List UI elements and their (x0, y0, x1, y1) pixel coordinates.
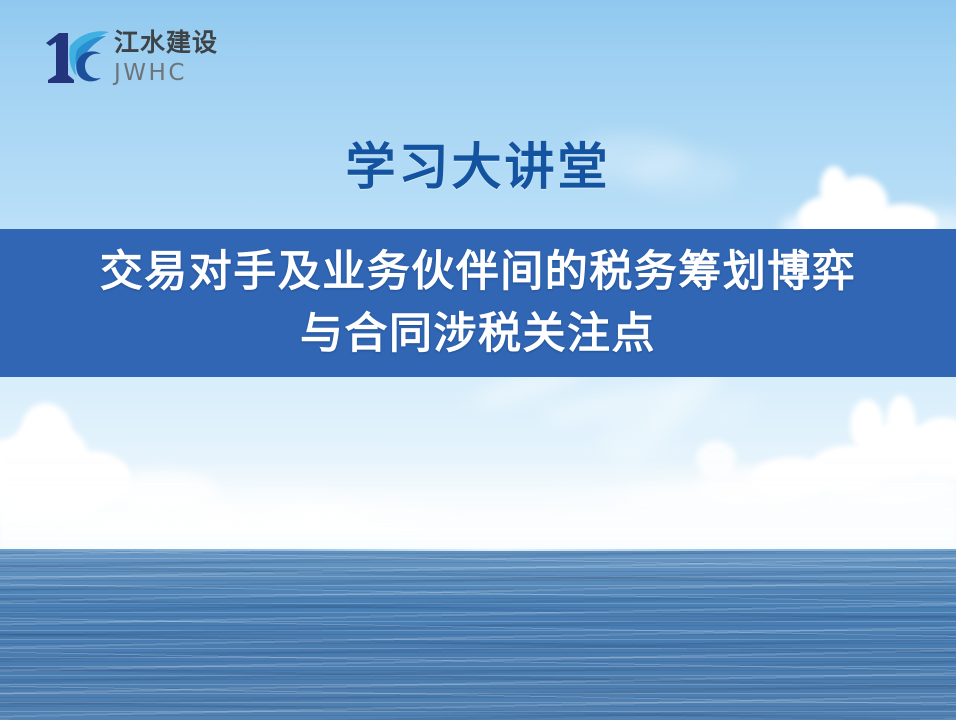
ocean-background (0, 549, 956, 720)
title-band-line-2: 与合同涉税关注点 (300, 303, 656, 365)
logo-company-name-cn: 江水建设 (114, 28, 244, 58)
horizon-line (0, 549, 956, 551)
jwhc-wave-logo-mark-icon (44, 30, 110, 86)
wave-texture (0, 549, 956, 720)
company-logo: 江水建设 JWHC (44, 28, 244, 100)
horizon-haze (0, 455, 956, 549)
logo-wordmark: 江水建设 JWHC (114, 28, 244, 86)
logo-company-name-en: JWHC (114, 60, 244, 86)
title-band: 交易对手及业务伙伴间的税务筹划博弈 与合同涉税关注点 (0, 229, 956, 377)
page-title: 学习大讲堂 (0, 136, 956, 198)
title-band-line-1: 交易对手及业务伙伴间的税务筹划博弈 (100, 241, 857, 303)
presentation-slide: 江水建设 JWHC 学习大讲堂 交易对手及业务伙伴间的税务筹划博弈 与合同涉税关… (0, 0, 956, 720)
